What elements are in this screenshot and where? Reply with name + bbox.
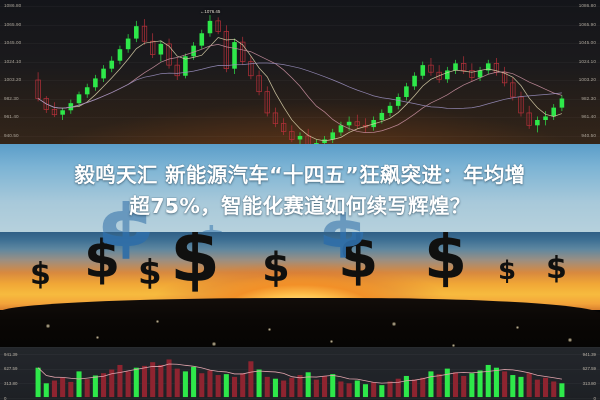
- volume-bar: [486, 365, 491, 397]
- volume-bar: [273, 379, 278, 397]
- candle-body: [396, 97, 401, 106]
- volume-bar: [257, 370, 262, 398]
- volume-axis-tick: 941.39: [4, 352, 17, 357]
- volume-bar: [510, 375, 515, 397]
- volume-bar: [404, 376, 409, 397]
- volume-bar: [420, 378, 425, 397]
- volume-bar: [330, 374, 335, 397]
- dollar-silhouette-blue: $: [318, 232, 368, 258]
- volume-bar: [314, 380, 319, 397]
- price-axis-tick: 940.50: [581, 133, 596, 138]
- volume-bar: [36, 368, 41, 397]
- volume-bar: [265, 377, 270, 397]
- volume-bar: [428, 371, 433, 397]
- volume-bar: [167, 359, 172, 397]
- candle-body: [93, 78, 98, 87]
- bokeh-light: [330, 340, 333, 343]
- headline-line-1: 毅鸣天汇 新能源汽车“十四五”狂飙突进：年均增: [0, 160, 600, 191]
- volume-bar: [355, 381, 360, 398]
- price-chart-panel[interactable]: 1086.801065.901045.001024.101003.20982.3…: [0, 0, 600, 160]
- headline-band: $ $ $ 毅鸣天汇 新能源汽车“十四五”狂飙突进：年均增 超75%，智能化赛道…: [0, 144, 600, 245]
- volume-bar: [338, 381, 343, 397]
- volume-bar: [469, 373, 474, 397]
- candle-body: [453, 63, 458, 70]
- price-peak-annotation: ←1076.45: [200, 9, 220, 14]
- candle-body: [191, 46, 196, 57]
- price-axis-tick: 1086.80: [4, 3, 21, 8]
- volume-axis-tick: 313.80: [583, 381, 596, 386]
- volume-bar: [76, 371, 81, 397]
- price-axis-tick: 1024.10: [579, 59, 596, 64]
- volume-bar: [412, 380, 417, 397]
- volume-bar: [445, 369, 450, 397]
- volume-bar: [363, 384, 368, 397]
- volume-bar: [224, 374, 229, 397]
- headline-text: 毅鸣天汇 新能源汽车“十四五”狂飙突进：年均增 超75%，智能化赛道如何续写辉煌…: [0, 160, 600, 222]
- price-axis-tick: 961.40: [4, 114, 19, 119]
- candle-body: [560, 99, 565, 108]
- candle-body: [77, 94, 82, 103]
- volume-bar: [478, 370, 483, 397]
- bokeh-light: [46, 324, 50, 328]
- price-axis-tick: 961.40: [581, 114, 596, 119]
- volume-bar: [297, 375, 302, 397]
- bokeh-light: [568, 338, 572, 342]
- candle-body: [543, 116, 548, 120]
- volume-bar: [527, 373, 532, 397]
- dollar-silhouette: $: [262, 248, 290, 288]
- price-axis-tick: 1065.90: [4, 22, 21, 27]
- bokeh-light: [96, 336, 99, 339]
- volume-bar: [199, 373, 204, 397]
- volume-axis-tick: 941.39: [583, 352, 596, 357]
- candle-body: [109, 61, 114, 69]
- volume-bar: [551, 381, 556, 397]
- candle-body: [388, 106, 393, 113]
- volume-bar: [191, 367, 196, 397]
- volume-bar: [543, 378, 548, 397]
- volume-bar: [207, 370, 212, 397]
- price-axis-tick: 1065.90: [579, 22, 596, 27]
- price-axis-tick: 1045.00: [4, 40, 21, 45]
- candle-body: [118, 49, 123, 61]
- volume-bar: [281, 381, 286, 398]
- candle-body: [420, 65, 425, 76]
- candle-body: [347, 122, 352, 126]
- volume-bar: [150, 362, 155, 397]
- candle-body: [126, 39, 131, 50]
- volume-bar-plot: [0, 348, 600, 400]
- volume-bar: [216, 375, 221, 397]
- candle-body: [551, 108, 556, 117]
- volume-bar: [535, 380, 540, 397]
- dollar-silhouette: $: [30, 260, 51, 290]
- volume-bar: [44, 383, 49, 397]
- dollar-silhouette: $: [424, 232, 467, 288]
- candle-body: [159, 44, 164, 55]
- volume-bar: [306, 372, 311, 397]
- candle-body: [101, 69, 106, 79]
- volume-bar: [379, 385, 384, 397]
- screenshot-root: 1086.801065.901045.001024.101003.20982.3…: [0, 0, 600, 400]
- volume-bar: [347, 383, 352, 397]
- volume-bar: [453, 372, 458, 397]
- volume-bar: [142, 366, 147, 397]
- volume-bar: [175, 369, 180, 397]
- price-axis-tick: 1024.10: [4, 59, 21, 64]
- candle-body: [199, 33, 204, 45]
- price-axis-tick: 1086.80: [579, 3, 596, 8]
- volume-bar: [93, 376, 98, 398]
- candle-body: [208, 21, 213, 33]
- volume-bar: [437, 374, 442, 397]
- candle-body: [60, 110, 65, 114]
- volume-bar: [85, 379, 90, 397]
- volume-bar: [559, 383, 564, 397]
- bokeh-light: [516, 326, 519, 329]
- candle-body: [298, 136, 303, 140]
- volume-bar: [371, 382, 376, 397]
- price-axis-tick: 1003.20: [4, 77, 21, 82]
- candle-body: [404, 86, 409, 97]
- volume-bar: [248, 361, 253, 397]
- price-axis-tick: 1045.00: [579, 40, 596, 45]
- volume-axis-tick: 313.80: [4, 381, 17, 386]
- volume-bar: [68, 382, 73, 397]
- volume-bar: [60, 378, 65, 397]
- volume-axis-tick: 627.59: [4, 366, 17, 371]
- volume-bar: [322, 376, 327, 397]
- volume-axis-tick: 627.59: [583, 366, 596, 371]
- candle-body: [535, 120, 540, 125]
- dollar-silhouette: $: [170, 232, 220, 292]
- volume-bar: [232, 377, 237, 397]
- volume-bar: [387, 381, 392, 397]
- dollar-silhouette: $: [498, 258, 516, 284]
- price-moving-average-line: [38, 44, 562, 132]
- volume-bar: [134, 368, 139, 397]
- price-candlestick-plot: [0, 0, 600, 160]
- volume-bar: [289, 378, 294, 397]
- price-moving-average-line: [38, 38, 562, 141]
- price-axis-tick: 982.30: [4, 96, 19, 101]
- volume-bar: [240, 373, 245, 397]
- volume-bar: [52, 381, 57, 398]
- volume-chart-panel[interactable]: 941.39627.59313.800 941.39627.59313.800: [0, 347, 600, 400]
- volume-bar: [396, 379, 401, 397]
- candle-body: [339, 125, 344, 132]
- price-axis-tick: 940.50: [4, 133, 19, 138]
- volume-bar: [158, 365, 163, 397]
- bokeh-light: [156, 320, 159, 323]
- volume-bar: [126, 371, 131, 397]
- dollar-silhouette-blue: $: [96, 232, 156, 260]
- volume-bar: [502, 371, 507, 397]
- bokeh-light: [212, 342, 216, 346]
- candle-body: [330, 132, 335, 139]
- candle-body: [380, 113, 385, 120]
- price-axis-tick: 1003.20: [579, 77, 596, 82]
- candle-body: [412, 76, 417, 87]
- volume-axis-tick: 0: [594, 396, 596, 400]
- candle-body: [134, 26, 139, 38]
- volume-bar: [494, 368, 499, 397]
- volume-bar: [183, 371, 188, 397]
- candle-body: [85, 87, 90, 94]
- volume-bar: [461, 376, 466, 397]
- volume-bar: [117, 365, 122, 397]
- dollar-silhouette: $: [546, 254, 567, 284]
- volume-bar: [518, 377, 523, 397]
- volume-axis-tick: 0: [4, 396, 6, 400]
- sunset-photo: $ $ $ $ $ $ $ $ $ $ $ 视觉中国: [0, 232, 600, 356]
- headline-line-2: 超75%，智能化赛道如何续写辉煌？: [0, 191, 600, 222]
- candle-body: [478, 70, 483, 77]
- bokeh-light: [392, 322, 396, 326]
- bokeh-light: [268, 328, 271, 331]
- price-axis-tick: 982.30: [581, 96, 596, 101]
